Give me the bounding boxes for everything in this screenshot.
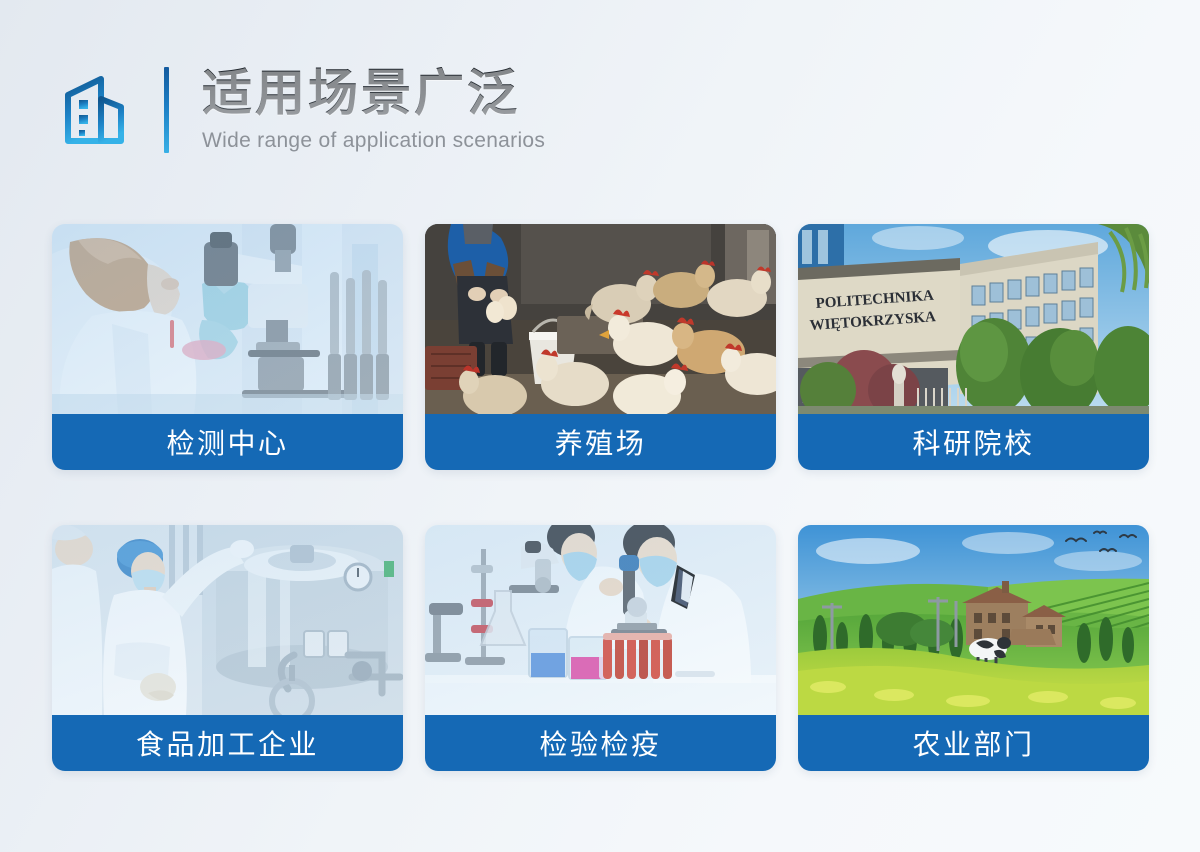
card-label-text: 农业部门 <box>912 723 1034 763</box>
page-header: 适用场景广泛 Wide range of application scenari… <box>62 58 545 162</box>
card-label-bar: 食品加工企业 <box>52 715 403 771</box>
scenario-card-research-institute[interactable]: POLITECHNIKA WIĘTOKRZYSKA syer.com 素材免费下… <box>798 224 1149 470</box>
university-campus-photo: POLITECHNIKA WIĘTOKRZYSKA syer.com 素材免费下… <box>798 224 1149 414</box>
card-label-bar: 农业部门 <box>798 715 1149 771</box>
application-scenarios-grid: 检测中心 <box>52 224 1148 771</box>
scenario-card-testing-center[interactable]: 检测中心 <box>52 224 403 470</box>
card-label-text: 养殖场 <box>555 422 647 462</box>
food-processing-plant-photo <box>52 525 403 715</box>
card-label-text: 食品加工企业 <box>136 723 319 763</box>
card-label-bar: 科研院校 <box>798 414 1149 470</box>
scenario-card-food-processing[interactable]: 食品加工企业 <box>52 525 403 771</box>
page-subtitle: Wide range of application scenarios <box>202 129 545 153</box>
building-icon <box>62 73 128 147</box>
agricultural-countryside-photo <box>798 525 1149 715</box>
scientist-at-microscope-photo <box>52 224 403 414</box>
scenario-card-breeding-farm[interactable]: 养殖场 <box>425 224 776 470</box>
card-label-bar: 检测中心 <box>52 414 403 470</box>
header-titles: 适用场景广泛 Wide range of application scenari… <box>202 67 545 153</box>
card-label-text: 科研院校 <box>912 422 1034 462</box>
scenario-card-inspection-quarantine[interactable]: 检验检疫 <box>425 525 776 771</box>
card-label-bar: 检验检疫 <box>425 715 776 771</box>
inspection-quarantine-lab-photo <box>425 525 776 715</box>
card-label-bar: 养殖场 <box>425 414 776 470</box>
poultry-farm-photo <box>425 224 776 414</box>
scenario-card-agriculture-department[interactable]: 农业部门 <box>798 525 1149 771</box>
header-accent-divider <box>164 67 169 153</box>
card-label-text: 检验检疫 <box>539 723 661 763</box>
page-title: 适用场景广泛 <box>202 67 545 120</box>
card-label-text: 检测中心 <box>166 422 288 462</box>
